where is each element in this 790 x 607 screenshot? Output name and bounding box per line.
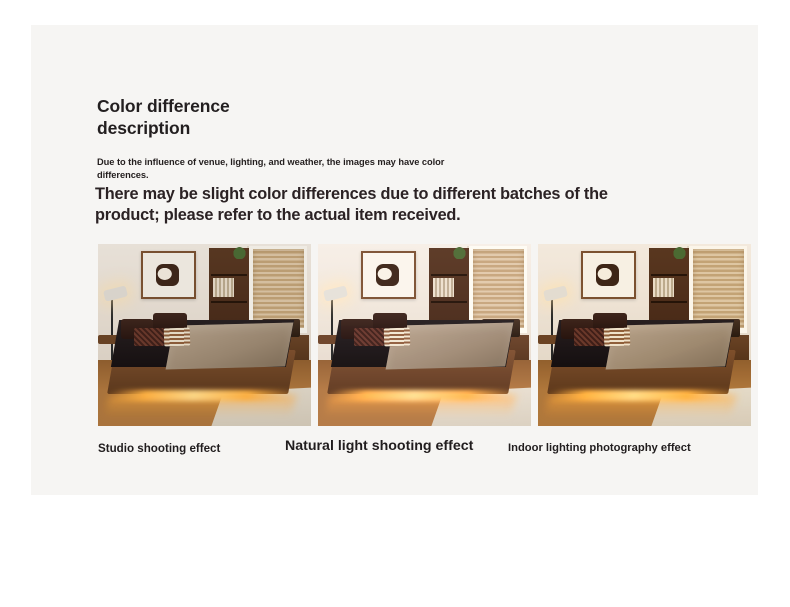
cushion [134, 328, 164, 346]
shelf-divider [651, 274, 687, 276]
window-blinds-icon [253, 249, 305, 328]
disclaimer-note: Due to the influence of venue, lighting,… [97, 156, 497, 183]
window-blinds-icon [473, 249, 525, 328]
content-panel: Color difference description Due to the … [31, 25, 758, 495]
bedroom-scene-image [98, 244, 311, 426]
shelf-divider [431, 274, 467, 276]
cushion [574, 328, 604, 346]
striped-cushion [164, 327, 190, 346]
framed-artwork [141, 251, 196, 299]
shelf-divider [431, 301, 467, 303]
caption-indoor-lighting: Indoor lighting photography effect [508, 442, 691, 454]
shelf-divider [211, 301, 247, 303]
shelf-divider [651, 301, 687, 303]
page-title: Color difference description [97, 95, 427, 140]
led-strip-light [552, 390, 733, 401]
caption-natural-light-shooting: Natural light shooting effect [285, 438, 473, 454]
striped-cushion [604, 327, 630, 346]
striped-cushion [384, 327, 410, 346]
bedroom-scene-image [318, 244, 531, 426]
led-strip-light [112, 390, 293, 401]
photo-studio-shooting[interactable] [98, 244, 311, 426]
cushion [354, 328, 384, 346]
bedroom-scene-image [538, 244, 751, 426]
page-title-line-1: Color difference [97, 95, 427, 117]
shelf-divider [211, 274, 247, 276]
color-difference-statement: There may be slight color differences du… [95, 184, 675, 226]
window-blinds-icon [693, 249, 745, 328]
caption-studio-shooting: Studio shooting effect [98, 442, 220, 455]
led-strip-light [332, 390, 513, 401]
page-title-line-2: description [97, 117, 427, 139]
watermark-text [546, 87, 776, 149]
photo-indoor-lighting[interactable] [538, 244, 751, 426]
page-root: Color difference description Due to the … [0, 0, 790, 607]
plant-icon [452, 244, 467, 259]
books [653, 278, 674, 296]
photo-gallery [98, 244, 751, 426]
framed-artwork [361, 251, 416, 299]
framed-artwork [581, 251, 636, 299]
photo-natural-light-shooting[interactable] [318, 244, 531, 426]
books [213, 278, 234, 296]
plant-icon [232, 244, 247, 259]
books [433, 278, 454, 296]
plant-icon [672, 244, 687, 259]
